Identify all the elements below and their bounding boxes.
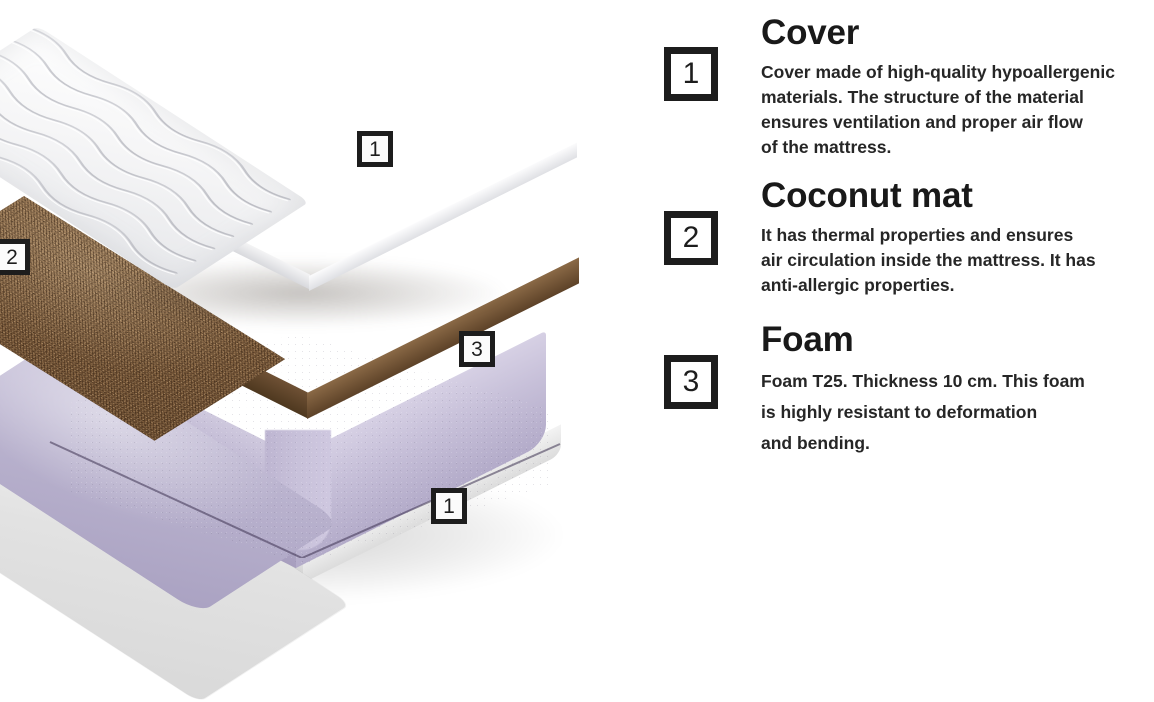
legend-body-line: air circulation inside the mattress. It … <box>761 248 1154 273</box>
legend-body-line: materials. The structure of the material <box>761 85 1154 110</box>
legend-body-line: anti-allergic properties. <box>761 273 1154 298</box>
callout-badge-foam[interactable]: 3 <box>459 331 495 367</box>
legend-body-line: is highly resistant to deformation <box>761 397 1154 428</box>
legend-heading-cover: Cover <box>761 13 859 53</box>
legend-body-cover: Cover made of high-quality hypoallergeni… <box>761 60 1154 160</box>
legend-heading-foam: Foam <box>761 320 854 360</box>
legend-body-foam: Foam T25. Thickness 10 cm. This foam is … <box>761 366 1154 459</box>
legend-heading-coconut: Coconut mat <box>761 176 973 216</box>
callout-badge-base[interactable]: 1 <box>431 488 467 524</box>
legend-body-line: It has thermal properties and ensures <box>761 223 1154 248</box>
cover-layer <box>10 8 610 328</box>
legend-body-line: Foam T25. Thickness 10 cm. This foam <box>761 366 1154 397</box>
legend-body-line: ensures ventilation and proper air flow <box>761 110 1154 135</box>
legend-body-coconut: It has thermal properties and ensures ai… <box>761 223 1154 298</box>
callout-badge-coconut[interactable]: 2 <box>0 239 30 275</box>
mattress-illustration: 1 2 3 1 <box>0 0 640 621</box>
legend-body-line: of the mattress. <box>761 135 1154 160</box>
legend-badge-3: 3 <box>664 355 718 409</box>
legend-panel: 1 Cover Cover made of high-quality hypoa… <box>640 0 1154 621</box>
legend-badge-2: 2 <box>664 211 718 265</box>
callout-badge-cover[interactable]: 1 <box>357 131 393 167</box>
legend-body-line: Cover made of high-quality hypoallergeni… <box>761 60 1154 85</box>
legend-body-line: and bending. <box>761 428 1154 459</box>
legend-badge-1: 1 <box>664 47 718 101</box>
